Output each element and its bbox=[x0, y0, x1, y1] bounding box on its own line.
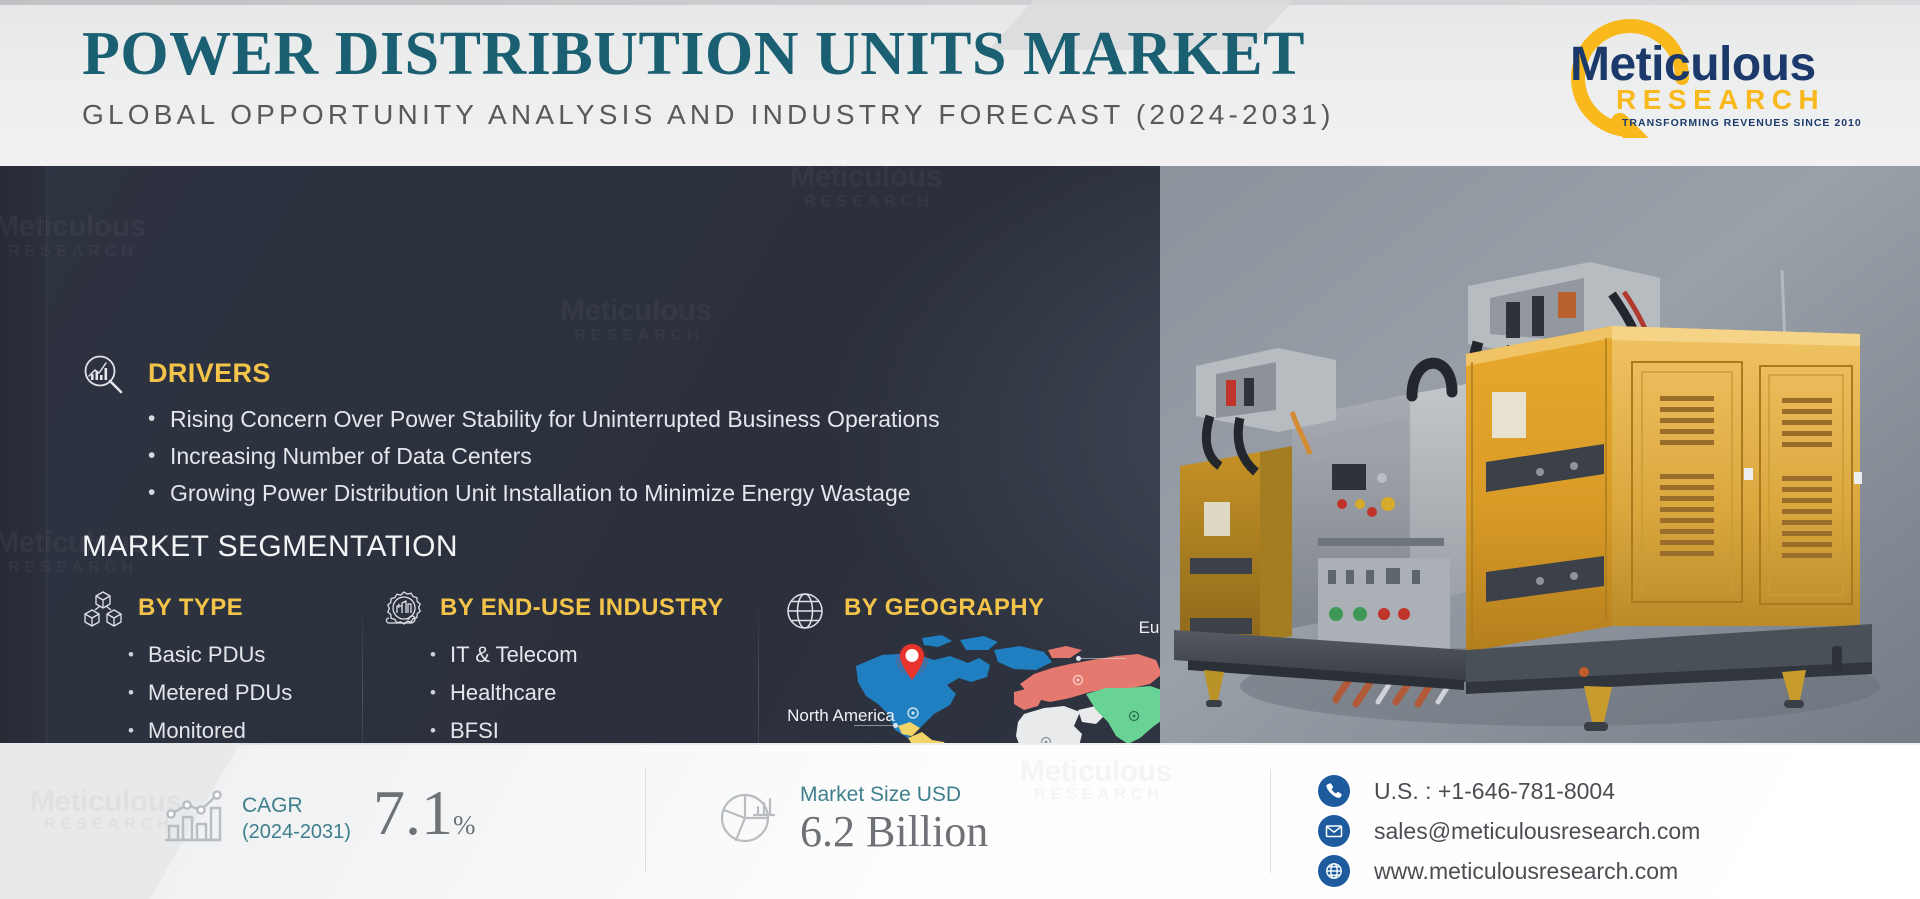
segment-list-by-end-use-industry: • IT & Telecom • Healthcare • BFSI • Aut… bbox=[430, 638, 666, 743]
footer-top-rule bbox=[0, 743, 1920, 745]
market-segmentation-heading: MARKET SEGMENTATION bbox=[82, 530, 458, 564]
column-divider bbox=[362, 598, 363, 743]
drivers-list: • Rising Concern Over Power Stability fo… bbox=[148, 406, 1158, 517]
segment-title-by-end-use-industry: BY END-USE INDUSTRY bbox=[440, 594, 724, 622]
callout-dot-europe bbox=[1076, 656, 1081, 661]
contact-row-phone[interactable]: U.S. : +1-646-781-8004 bbox=[1318, 773, 1700, 809]
map-label-north-america: North America bbox=[786, 706, 896, 726]
bullet-icon: • bbox=[430, 714, 450, 743]
left-accent-edge bbox=[46, 166, 47, 743]
list-item: • Rising Concern Over Power Stability fo… bbox=[148, 406, 1158, 432]
contact-email-text: sales@meticulousresearch.com bbox=[1374, 818, 1700, 845]
list-item: • Growing Power Distribution Unit Instal… bbox=[148, 480, 1158, 506]
watermark: MeticulousRESEARCH bbox=[560, 296, 712, 344]
cagr-label-line2: (2024-2031) bbox=[242, 819, 351, 846]
column-divider bbox=[758, 598, 759, 743]
globe-icon bbox=[782, 588, 828, 639]
list-item: • Healthcare bbox=[430, 676, 666, 709]
product-photo-power-distribution-unit bbox=[1160, 166, 1920, 743]
email-icon bbox=[1318, 815, 1350, 847]
footer-divider bbox=[1270, 769, 1271, 873]
header-text-block: POWER DISTRIBUTION UNITS MARKET GLOBAL O… bbox=[82, 22, 1335, 131]
stat-market-size: Market Size USD 6.2 Billion bbox=[716, 781, 988, 856]
market-size-value: 6.2 Billion bbox=[800, 808, 988, 856]
bullet-icon: • bbox=[128, 638, 148, 671]
list-item: • Increasing Number of Data Centers bbox=[148, 443, 1158, 469]
market-size-label: Market Size USD bbox=[800, 781, 988, 808]
cubes-icon bbox=[82, 588, 124, 635]
logo-tagline: TRANSFORMING REVENUES SINCE 2010 bbox=[1622, 118, 1862, 129]
bullet-icon: • bbox=[128, 714, 148, 743]
page-title: POWER DISTRIBUTION UNITS MARKET bbox=[82, 22, 1335, 87]
map-region-middle-east-africa bbox=[1016, 706, 1106, 743]
contact-row-website[interactable]: www.meticulousresearch.com bbox=[1318, 853, 1700, 889]
bullet-icon: • bbox=[430, 638, 450, 671]
cagr-label: CAGR (2024-2031) bbox=[242, 792, 351, 846]
footer: MeticulousRESEARCH MeticulousRESEARCH bbox=[0, 743, 1920, 899]
stat-cagr: CAGR (2024-2031) 7.1% bbox=[160, 781, 475, 857]
bullet-icon: • bbox=[430, 676, 450, 709]
bar-chart-growth-icon bbox=[160, 786, 224, 853]
globe-icon bbox=[1318, 855, 1350, 887]
segmentation-columns: BY TYPE • Basic PDUs • Metered PDUs • Mo… bbox=[82, 586, 1142, 743]
brand-logo[interactable]: Meticulous RESEARCH TRANSFORMING REVENUE… bbox=[1538, 18, 1868, 138]
page-subtitle: GLOBAL OPPORTUNITY ANALYSIS AND INDUSTRY… bbox=[82, 99, 1335, 131]
bullet-icon: • bbox=[148, 443, 170, 469]
header-top-rule bbox=[0, 0, 1920, 5]
bullet-icon: • bbox=[148, 406, 170, 432]
phone-icon bbox=[1318, 775, 1350, 807]
contact-row-email[interactable]: sales@meticulousresearch.com bbox=[1318, 813, 1700, 849]
drivers-icon bbox=[82, 354, 126, 401]
contact-website-text: www.meticulousresearch.com bbox=[1374, 858, 1678, 885]
list-item: • BFSI bbox=[430, 714, 666, 743]
list-item: • Basic PDUs bbox=[128, 638, 301, 671]
cagr-value: 7.1% bbox=[373, 781, 476, 857]
contact-phone-text: U.S. : +1-646-781-8004 bbox=[1374, 778, 1615, 805]
footer-divider bbox=[645, 769, 646, 873]
cagr-number: 7.1 bbox=[373, 777, 453, 848]
contact-block: U.S. : +1-646-781-8004 sales@meticulousr… bbox=[1318, 773, 1700, 893]
watermark: MeticulousRESEARCH bbox=[790, 166, 942, 210]
industry-gear-icon bbox=[382, 588, 426, 637]
cagr-unit: % bbox=[453, 810, 476, 840]
bullet-icon: • bbox=[148, 480, 170, 506]
infographic-root: POWER DISTRIBUTION UNITS MARKET GLOBAL O… bbox=[0, 0, 1920, 899]
segment-title-by-type: BY TYPE bbox=[138, 594, 243, 622]
segment-title-by-geography: BY GEOGRAPHY bbox=[844, 594, 1044, 622]
market-size-text: Market Size USD 6.2 Billion bbox=[800, 781, 988, 856]
list-item: • Metered PDUs bbox=[128, 676, 301, 709]
watermark: MeticulousRESEARCH bbox=[1020, 757, 1172, 803]
cagr-label-line1: CAGR bbox=[242, 792, 351, 819]
pie-chart-icon bbox=[716, 785, 782, 852]
segment-list-by-type: • Basic PDUs • Metered PDUs • Monitored … bbox=[128, 638, 301, 743]
logo-research-text: RESEARCH bbox=[1616, 86, 1825, 114]
logo-wordmark: Meticulous bbox=[1570, 41, 1816, 89]
drivers-heading: DRIVERS bbox=[148, 358, 271, 389]
left-accent-band bbox=[0, 166, 46, 743]
callout-line-europe bbox=[1078, 658, 1126, 659]
map-region-latin-america bbox=[898, 722, 984, 743]
main-dark-panel: MeticulousRESEARCH MeticulousRESEARCH Me… bbox=[0, 166, 1920, 743]
list-item: • IT & Telecom bbox=[430, 638, 666, 671]
bullet-icon: • bbox=[128, 676, 148, 709]
header: POWER DISTRIBUTION UNITS MARKET GLOBAL O… bbox=[0, 0, 1920, 166]
list-item: • Monitored PDUs bbox=[128, 714, 301, 743]
